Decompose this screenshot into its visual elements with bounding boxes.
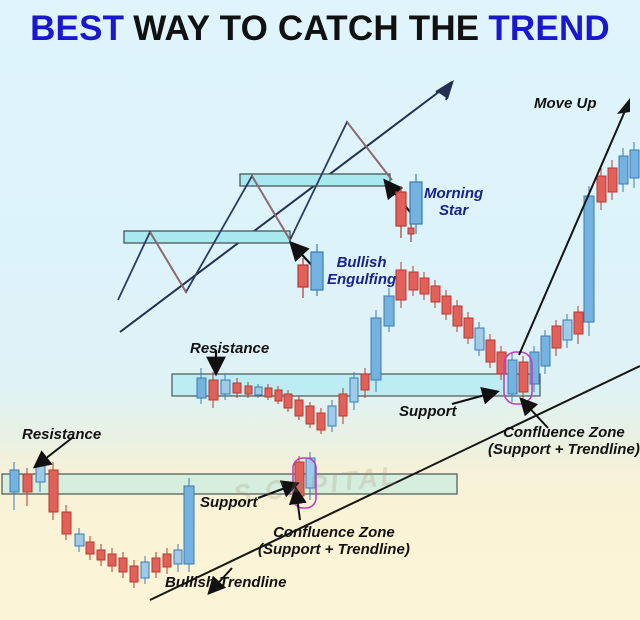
title-part-trend: TREND: [488, 9, 610, 49]
schematic-zone-2: [240, 174, 390, 186]
title-part-middle: WAY TO CATCH THE: [133, 9, 479, 49]
label-move-up: Move Up: [534, 96, 597, 113]
label-confluence-upper: Confluence Zone (Support + Trendline): [488, 425, 640, 459]
label-support-upper: Support: [399, 404, 457, 421]
label-support-lower: Support: [200, 495, 258, 512]
label-confluence-upper-line1: Confluence Zone: [488, 425, 640, 442]
label-confluence-lower-line1: Confluence Zone: [258, 525, 410, 542]
label-resistance-lower: Resistance: [22, 427, 101, 444]
infographic-canvas: S CAPITAL BEST WAY TO CATCH THE TREND Mo…: [0, 0, 640, 620]
label-bullish-engulfing-line2: Engulfing: [327, 272, 396, 289]
label-morning-star: Morning Star: [424, 186, 483, 220]
candle-bullish-engulfing: [298, 244, 323, 298]
schematic-pullback-leg-3: [347, 122, 392, 180]
label-morning-star-line1: Morning: [424, 186, 483, 203]
move-up-arrowhead: [617, 98, 630, 114]
label-bullish-engulfing-line1: Bullish: [327, 255, 396, 272]
candle-group-right: [508, 142, 639, 402]
page-title: BEST WAY TO CATCH THE TREND: [0, 0, 640, 58]
zone-lower-support: [2, 474, 457, 494]
candle-morning-star: [396, 174, 422, 242]
label-morning-star-line2: Star: [424, 203, 483, 220]
label-bullish-engulfing: Bullish Engulfing: [327, 255, 396, 289]
label-bullish-trendline: Bullish Trendline: [165, 575, 286, 592]
label-confluence-lower-line2: (Support + Trendline): [258, 542, 410, 559]
label-resistance-upper: Resistance: [190, 341, 269, 358]
label-confluence-lower: Confluence Zone (Support + Trendline): [258, 525, 410, 559]
title-part-best: BEST: [30, 9, 124, 49]
label-confluence-upper-line2: (Support + Trendline): [488, 442, 640, 459]
